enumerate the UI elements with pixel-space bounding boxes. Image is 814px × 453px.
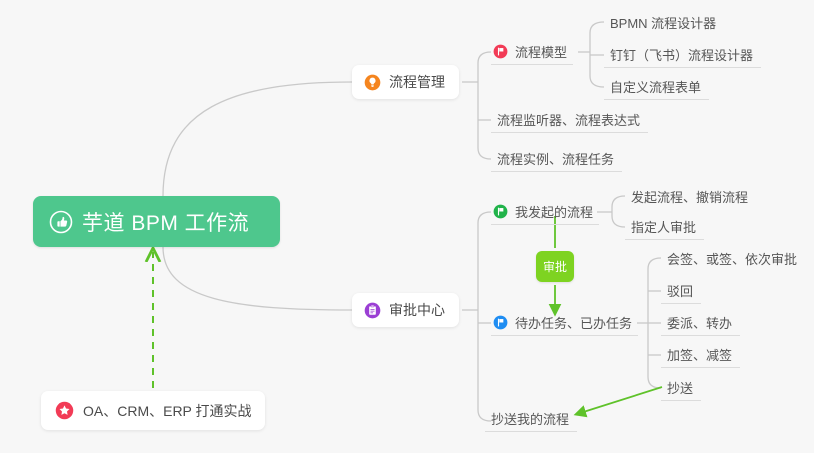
flag-icon bbox=[493, 204, 508, 219]
leaf-label-delegate-transfer: 委派、转办 bbox=[667, 313, 732, 332]
leaf-label-bpmn-designer: BPMN 流程设计器 bbox=[610, 13, 716, 32]
thumbs-up-icon bbox=[49, 210, 73, 234]
integration-callout-label: OA、CRM、ERP 打通实战 bbox=[83, 401, 252, 421]
leaf-node-listener-expression[interactable]: 流程监听器、流程表达式 bbox=[491, 107, 648, 133]
sub-node-process-model[interactable]: 流程模型 bbox=[491, 39, 573, 65]
branch-label-approval-center: 审批中心 bbox=[389, 300, 445, 320]
approval-tag: 审批 bbox=[536, 251, 574, 282]
leaf-label-custom-form: 自定义流程表单 bbox=[610, 77, 701, 96]
arrow-cc-to-my-cc bbox=[577, 387, 662, 414]
root-node[interactable]: 芋道 BPM 工作流 bbox=[33, 196, 280, 247]
leaf-node-dingtalk-designer[interactable]: 钉钉（飞书）流程设计器 bbox=[604, 42, 761, 68]
wire-root-to-approval-center bbox=[163, 247, 352, 310]
leaf-node-reject[interactable]: 驳回 bbox=[661, 278, 701, 304]
approval-tag-label: 审批 bbox=[543, 258, 567, 275]
flag-icon bbox=[493, 44, 508, 59]
clipboard-icon bbox=[364, 302, 381, 319]
sub-node-my-initiated-processes[interactable]: 我发起的流程 bbox=[491, 199, 599, 225]
lightbulb-icon bbox=[364, 74, 381, 91]
branch-node-approval-center[interactable]: 审批中心 bbox=[352, 293, 459, 327]
leaf-label-assignee-approval: 指定人审批 bbox=[631, 217, 696, 236]
leaf-node-assignee-approval[interactable]: 指定人审批 bbox=[625, 214, 704, 240]
integration-callout-node[interactable]: OA、CRM、ERP 打通实战 bbox=[41, 391, 265, 430]
sub-label-process-model: 流程模型 bbox=[515, 42, 567, 61]
leaf-node-instance-task[interactable]: 流程实例、流程任务 bbox=[491, 146, 622, 172]
wire-root-to-process-management bbox=[163, 82, 352, 196]
leaf-node-countersign[interactable]: 会签、或签、依次审批 bbox=[661, 245, 805, 271]
leaf-node-cc[interactable]: 抄送 bbox=[661, 375, 701, 401]
leaf-node-cc-to-me[interactable]: 抄送我的流程 bbox=[485, 406, 577, 432]
leaf-node-custom-form[interactable]: 自定义流程表单 bbox=[604, 74, 709, 100]
wire-mine-bracket bbox=[612, 196, 625, 227]
leaf-label-cc: 抄送 bbox=[667, 378, 693, 397]
wire-todo-bracket bbox=[648, 258, 661, 388]
leaf-label-cc-to-me: 抄送我的流程 bbox=[491, 409, 569, 428]
flag-icon bbox=[493, 315, 508, 330]
leaf-node-delegate-transfer[interactable]: 委派、转办 bbox=[661, 310, 740, 336]
sub-node-todo-done-tasks[interactable]: 待办任务、已办任务 bbox=[491, 310, 638, 336]
mindmap-canvas: 芋道 BPM 工作流 流程管理 流程模型 BPMN 流程设计器 钉钉（飞书 bbox=[0, 0, 814, 453]
sub-label-my-initiated-processes: 我发起的流程 bbox=[515, 202, 593, 221]
wire-ac-bracket bbox=[478, 212, 491, 421]
leaf-label-start-cancel-process: 发起流程、撤销流程 bbox=[631, 187, 748, 206]
leaf-label-instance-task: 流程实例、流程任务 bbox=[497, 149, 614, 168]
wire-pm-bracket bbox=[478, 52, 491, 159]
leaf-label-listener-expression: 流程监听器、流程表达式 bbox=[497, 110, 640, 129]
wire-pmodel-bracket bbox=[590, 22, 604, 87]
leaf-label-dingtalk-designer: 钉钉（飞书）流程设计器 bbox=[610, 45, 753, 64]
sub-label-todo-done-tasks: 待办任务、已办任务 bbox=[515, 313, 632, 332]
leaf-label-reject: 驳回 bbox=[667, 281, 693, 300]
leaf-label-countersign: 会签、或签、依次审批 bbox=[667, 249, 797, 268]
star-icon bbox=[55, 401, 74, 420]
leaf-node-add-remove-sign[interactable]: 加签、减签 bbox=[661, 342, 740, 368]
branch-node-process-management[interactable]: 流程管理 bbox=[352, 65, 459, 99]
leaf-node-start-cancel-process[interactable]: 发起流程、撤销流程 bbox=[625, 183, 756, 209]
leaf-label-add-remove-sign: 加签、减签 bbox=[667, 345, 732, 364]
branch-label-process-management: 流程管理 bbox=[389, 72, 445, 92]
leaf-node-bpmn-designer[interactable]: BPMN 流程设计器 bbox=[604, 9, 724, 35]
root-label: 芋道 BPM 工作流 bbox=[82, 207, 249, 237]
